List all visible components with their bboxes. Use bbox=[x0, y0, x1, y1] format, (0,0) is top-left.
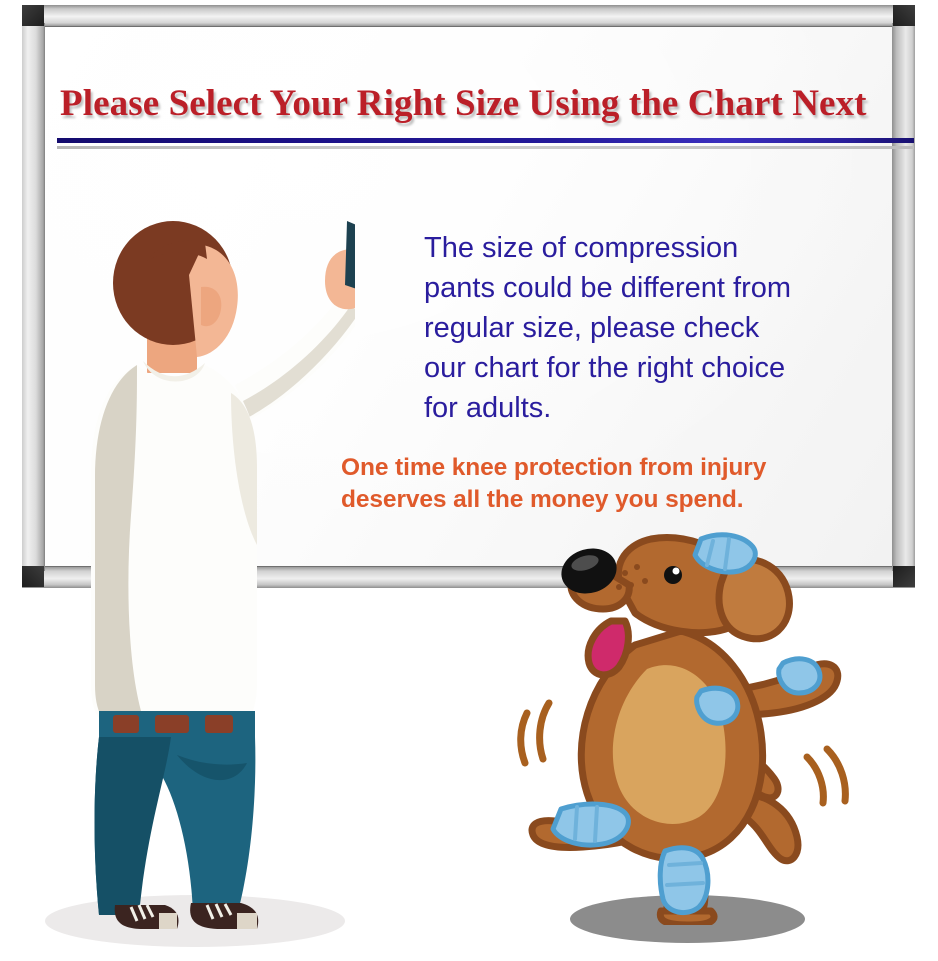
orange-paragraph: One time knee protection from injury des… bbox=[341, 452, 861, 516]
dog-eye-glint bbox=[673, 568, 680, 575]
whiteboard-frame-top bbox=[22, 5, 915, 27]
whiteboard-corner-bottom-left bbox=[22, 566, 44, 587]
orange-paragraph-line: One time knee protection from injury bbox=[341, 452, 861, 484]
orange-paragraph-line: deserves all the money you spend. bbox=[341, 484, 861, 516]
blue-paragraph-line: for adults. bbox=[424, 388, 854, 428]
headline-text: Please Select Your Right Size Using the … bbox=[60, 82, 920, 125]
whiteboard-corner-top-left bbox=[22, 5, 44, 26]
man-illustration bbox=[85, 215, 355, 930]
whiteboard-corner-bottom-right bbox=[893, 566, 915, 587]
whiteboard-frame-left bbox=[22, 23, 45, 571]
dog-eye bbox=[664, 566, 682, 584]
dog-armband bbox=[697, 688, 738, 723]
man-jeans-shade bbox=[95, 737, 172, 915]
blue-paragraph-line: regular size, please check bbox=[424, 308, 854, 348]
dog-illustration bbox=[515, 525, 860, 925]
man-shoe-right-toe bbox=[237, 913, 257, 929]
belt-loop bbox=[205, 715, 233, 733]
blue-paragraph-line: our chart for the right choice bbox=[424, 348, 854, 388]
dog-wristband bbox=[779, 659, 820, 693]
belt-loop bbox=[113, 715, 139, 733]
headline-underline-gray bbox=[57, 146, 914, 149]
blue-paragraph-line: pants could be different from bbox=[424, 268, 854, 308]
dog-leg-band-right bbox=[660, 848, 708, 913]
belt-loop bbox=[155, 715, 189, 733]
marker-pen bbox=[345, 221, 355, 289]
whiteboard-corner-top-right bbox=[893, 5, 915, 26]
banner-canvas: Please Select Your Right Size Using the … bbox=[0, 0, 938, 961]
blue-paragraph-line: The size of compression bbox=[424, 228, 854, 268]
dog-leg-band-left bbox=[553, 804, 628, 845]
man-shoe-left-toe bbox=[159, 913, 177, 929]
dog-tongue bbox=[588, 621, 628, 675]
blue-paragraph: The size of compression pants could be d… bbox=[424, 228, 854, 428]
headline-underline-blue bbox=[57, 138, 914, 143]
